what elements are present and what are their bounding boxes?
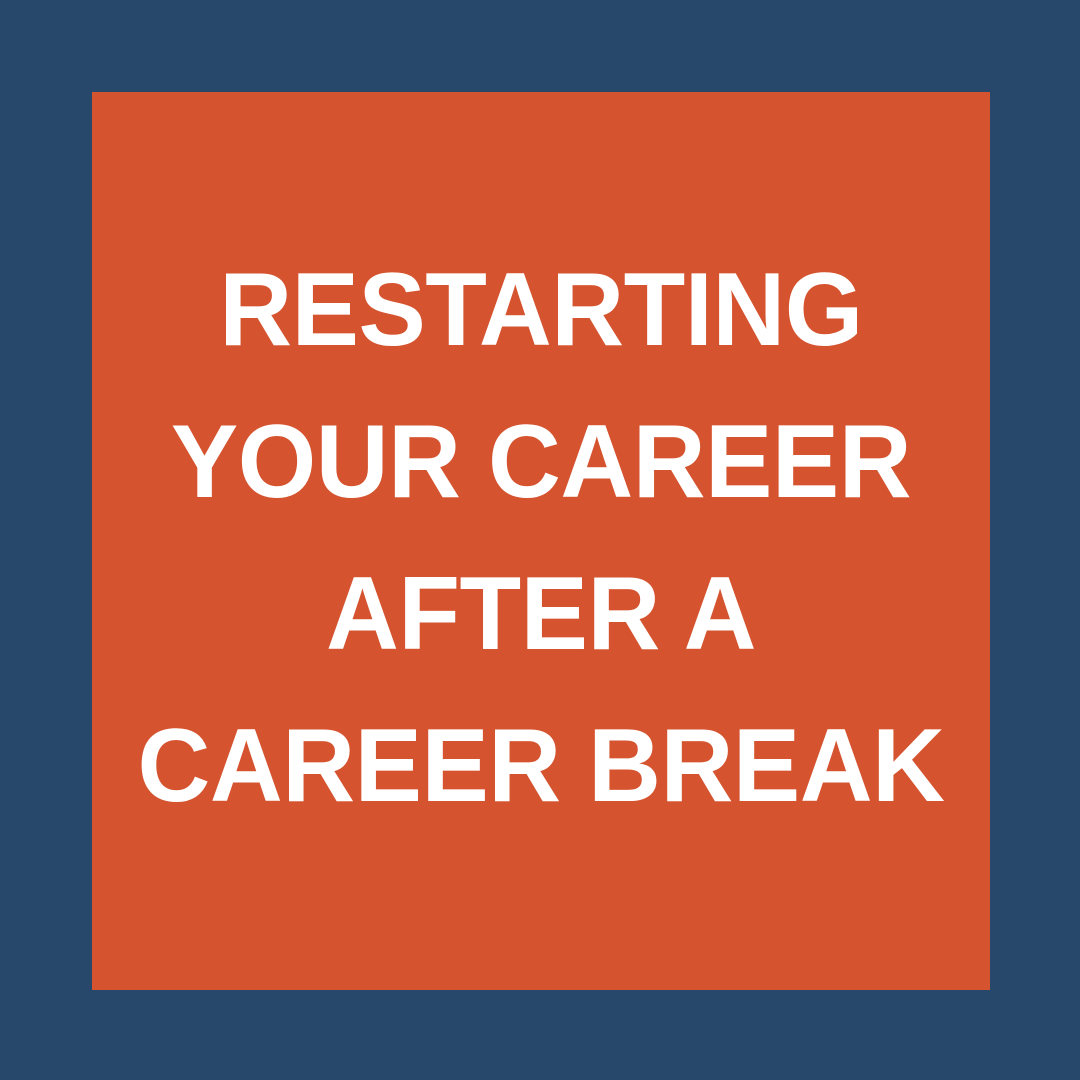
headline-block: RESTARTING YOUR CAREER AFTER A CAREER BR… [92, 234, 990, 842]
poster-canvas: RESTARTING YOUR CAREER AFTER A CAREER BR… [0, 0, 1080, 1080]
orange-panel: RESTARTING YOUR CAREER AFTER A CAREER BR… [92, 92, 990, 990]
headline-line-3: AFTER A [105, 538, 976, 690]
headline-line-2: YOUR CAREER [105, 386, 976, 538]
headline-line-4: CAREER BREAK [105, 690, 976, 842]
headline-line-1: RESTARTING [105, 234, 976, 386]
